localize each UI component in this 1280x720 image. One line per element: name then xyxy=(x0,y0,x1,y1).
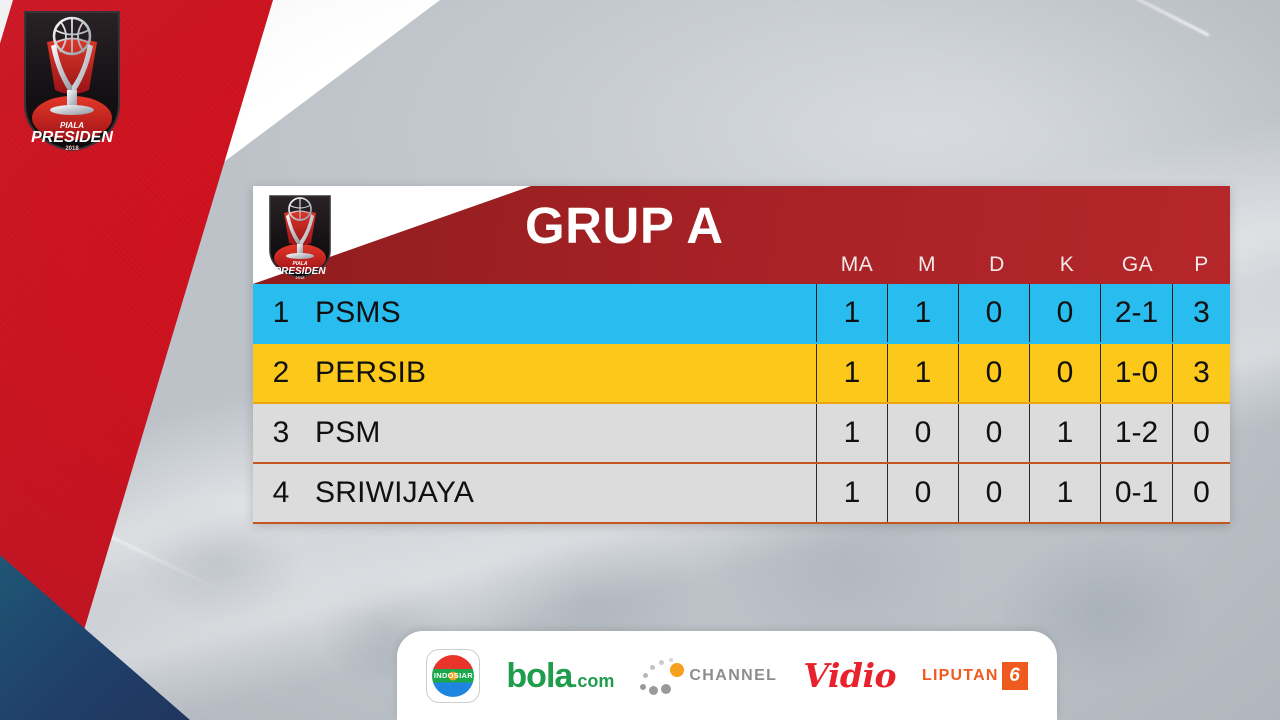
bola-suffix: .com xyxy=(572,671,614,691)
liputan6-six-badge: 6 xyxy=(1002,662,1028,690)
row-p: 0 xyxy=(1172,464,1230,522)
indosiar-logo: INDOSIAR xyxy=(426,649,480,703)
table-row: 3 PSM 1 0 0 1 1-2 0 xyxy=(253,404,1230,464)
sponsor-liputan6: LIPUTAN 6 xyxy=(922,662,1028,690)
crest-line2: PRESIDEN xyxy=(31,129,113,146)
row-ma: 1 xyxy=(816,344,887,402)
table-row: 4 SRIWIJAYA 1 0 0 1 0-1 0 xyxy=(253,464,1230,524)
crest-year: 2018 xyxy=(65,146,79,152)
row-k: 1 xyxy=(1029,404,1100,462)
sponsor-bar: INDOSIAR bola.com CHANNEL Vidio xyxy=(397,631,1057,720)
header-crest-year: 2018 xyxy=(296,275,306,280)
row-d: 0 xyxy=(958,284,1029,342)
row-d: 0 xyxy=(958,464,1029,522)
group-title: GRUP A xyxy=(525,200,855,251)
column-header-m: M xyxy=(892,253,962,277)
row-ma: 1 xyxy=(816,404,887,462)
row-ma: 1 xyxy=(816,464,887,522)
header-crest-svg: PIALA PRESIDEN 2018 xyxy=(265,192,335,280)
liputan6-label: LIPUTAN xyxy=(922,667,999,685)
row-d: 0 xyxy=(958,344,1029,402)
row-team: PSMS xyxy=(309,284,816,342)
row-team: SRIWIJAYA xyxy=(309,464,816,522)
sponsor-indosiar: INDOSIAR xyxy=(426,649,480,703)
standings-header: PIALA PRESIDEN 2018 GRUP A MA M D K GA P xyxy=(253,186,1230,284)
row-ga: 0-1 xyxy=(1100,464,1172,522)
indosiar-label: INDOSIAR xyxy=(434,671,473,680)
indosiar-globe-icon: INDOSIAR xyxy=(432,655,474,697)
table-row: 1 PSMS 1 1 0 0 2-1 3 xyxy=(253,284,1230,344)
row-k: 1 xyxy=(1029,464,1100,522)
column-headers: MA M D K GA P xyxy=(822,253,1230,277)
row-rank: 3 xyxy=(253,404,309,462)
row-k: 0 xyxy=(1029,344,1100,402)
row-m: 0 xyxy=(887,464,958,522)
sponsor-o-channel: CHANNEL xyxy=(640,656,777,696)
column-header-d: D xyxy=(962,253,1032,277)
bola-logo: bola.com xyxy=(506,659,614,693)
row-rank: 4 xyxy=(253,464,309,522)
row-team: PERSIB xyxy=(309,344,816,402)
column-header-k: K xyxy=(1032,253,1102,277)
header-crest: PIALA PRESIDEN 2018 xyxy=(265,192,335,280)
row-team: PSM xyxy=(309,404,816,462)
row-m: 0 xyxy=(887,404,958,462)
row-m: 1 xyxy=(887,284,958,342)
row-ga: 1-0 xyxy=(1100,344,1172,402)
row-ma: 1 xyxy=(816,284,887,342)
row-p: 3 xyxy=(1172,344,1230,402)
o-channel-swirl-icon xyxy=(640,656,684,696)
standings-table: PIALA PRESIDEN 2018 GRUP A MA M D K GA P… xyxy=(253,186,1230,524)
bola-label: bola xyxy=(506,657,572,695)
crest-svg: PIALA PRESIDEN 2018 xyxy=(17,6,127,156)
row-rank: 1 xyxy=(253,284,309,342)
row-rank: 2 xyxy=(253,344,309,402)
o-channel-orange-dot xyxy=(670,663,684,677)
row-p: 0 xyxy=(1172,404,1230,462)
sponsor-bola-com: bola.com xyxy=(506,659,614,693)
row-ga: 1-2 xyxy=(1100,404,1172,462)
piala-presiden-crest: PIALA PRESIDEN 2018 xyxy=(17,6,127,156)
o-channel-label: CHANNEL xyxy=(689,667,777,685)
row-p: 3 xyxy=(1172,284,1230,342)
vidio-label: Vidio xyxy=(803,659,896,692)
row-ga: 2-1 xyxy=(1100,284,1172,342)
column-header-ga: GA xyxy=(1102,253,1173,277)
column-header-ma: MA xyxy=(822,253,892,277)
liputan6-logo: LIPUTAN 6 xyxy=(922,662,1028,690)
row-m: 1 xyxy=(887,344,958,402)
table-row: 2 PERSIB 1 1 0 0 1-0 3 xyxy=(253,344,1230,404)
sponsor-vidio: Vidio xyxy=(803,659,896,692)
o-channel-logo: CHANNEL xyxy=(640,656,777,696)
column-header-p: P xyxy=(1173,253,1230,277)
row-d: 0 xyxy=(958,404,1029,462)
row-k: 0 xyxy=(1029,284,1100,342)
